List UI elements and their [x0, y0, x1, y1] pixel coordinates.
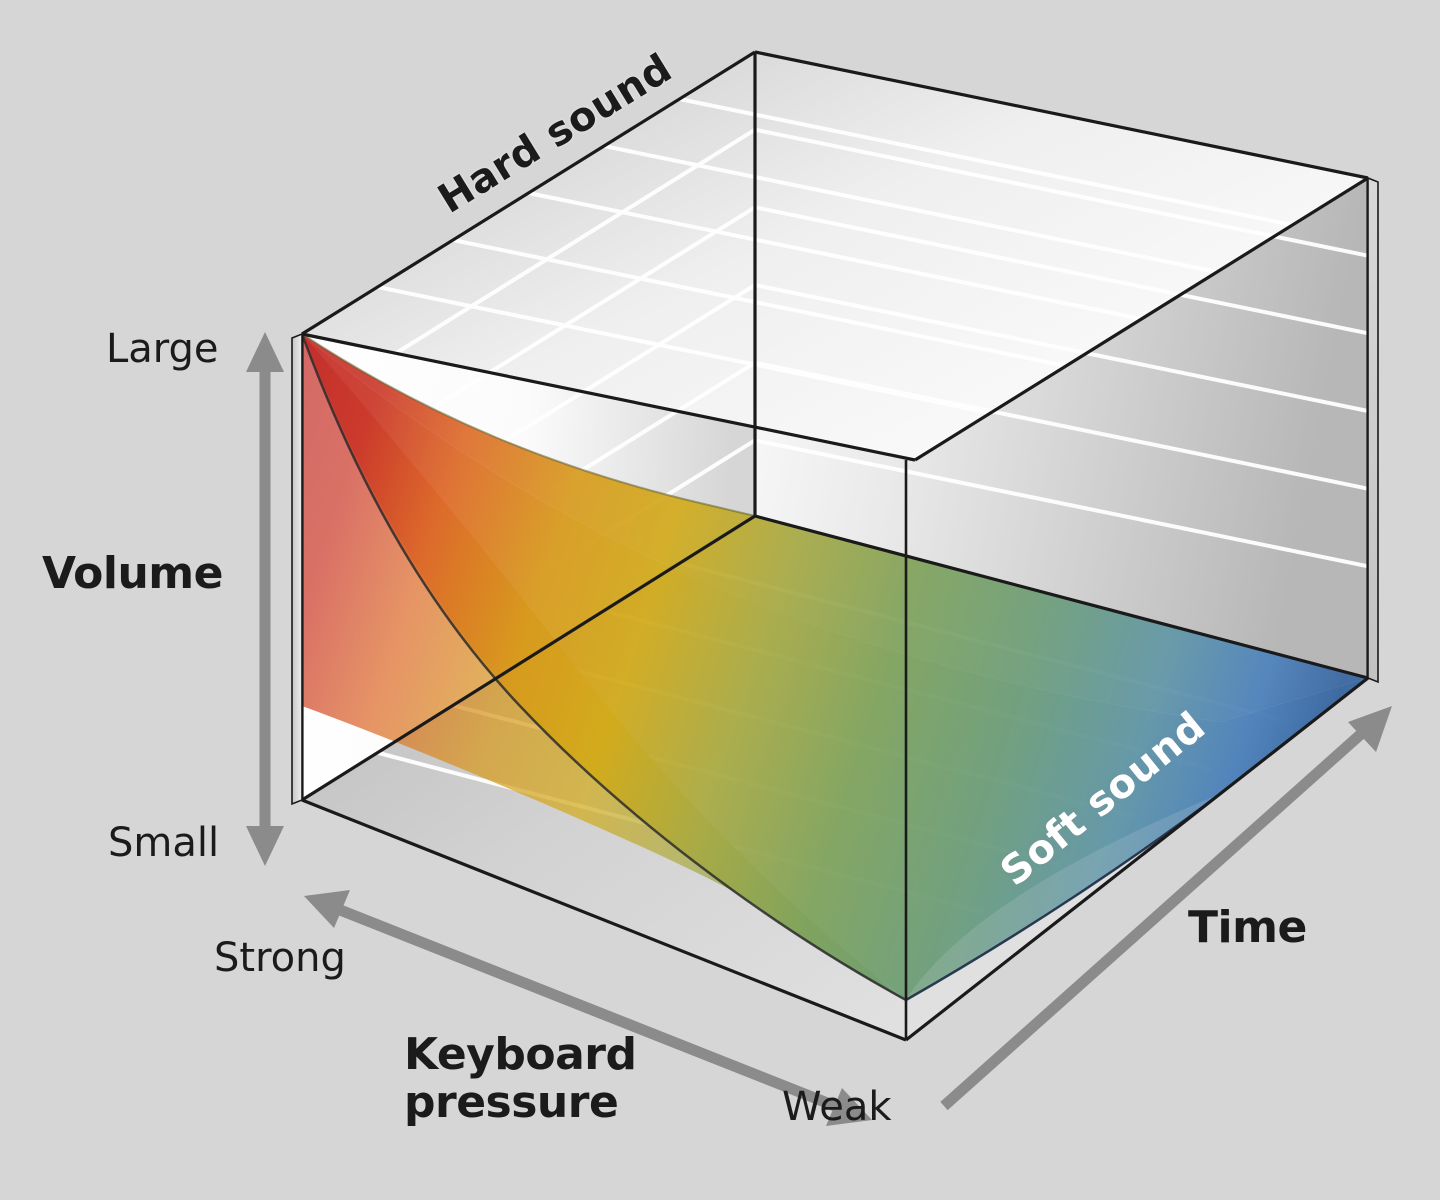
diagram-canvas: Volume Large Small Keyboard pressure Str…: [0, 0, 1440, 1200]
axis-tick-volume-small: Small: [108, 823, 219, 863]
axis-label-volume: Volume: [42, 552, 223, 596]
axis-label-time: Time: [1188, 906, 1307, 950]
axis-tick-pressure-weak: Weak: [782, 1087, 892, 1127]
left-wall-slab: [292, 334, 302, 804]
axis-label-keyboard-pressure-line1: Keyboard: [404, 1031, 636, 1079]
3d-surface-scene: [0, 0, 1440, 1200]
axis-label-keyboard-pressure-line2: pressure: [404, 1079, 636, 1127]
right-wall-slab: [1368, 178, 1378, 682]
axis-tick-volume-large: Large: [106, 329, 219, 369]
volume-axis-arrow: [246, 332, 284, 866]
axis-label-keyboard-pressure: Keyboard pressure: [404, 1031, 636, 1126]
axis-tick-pressure-strong: Strong: [214, 938, 346, 978]
